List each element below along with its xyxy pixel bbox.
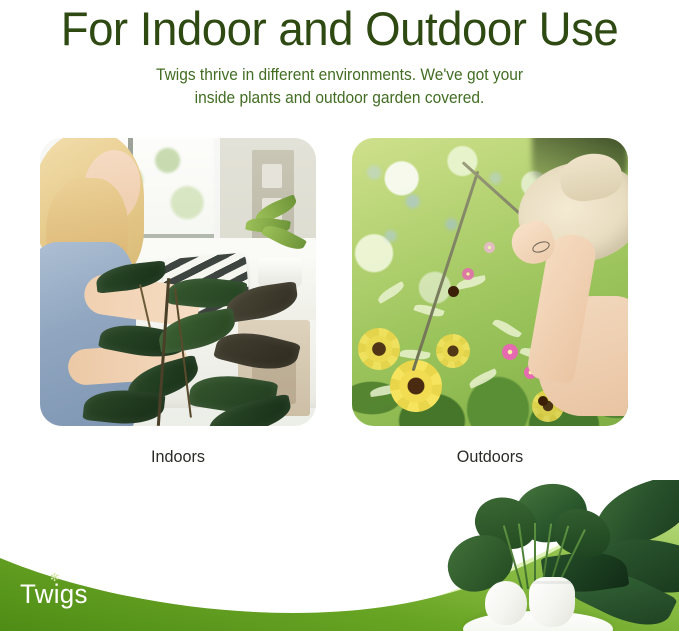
plant-pot-right — [529, 577, 575, 627]
product-feature-page: For Indoor and Outdoor Use Twigs thrive … — [0, 0, 679, 631]
pink-flower — [484, 242, 495, 253]
rubber-plant — [40, 138, 316, 426]
flower-center — [448, 286, 459, 297]
leaf-sparkle-icon: ✻ — [50, 574, 59, 583]
sunflower — [358, 328, 400, 370]
sunflower — [390, 360, 442, 412]
pink-flower — [502, 344, 518, 360]
card-caption-outdoors: Outdoors — [359, 446, 621, 468]
feature-card-indoors: Indoors — [40, 138, 316, 468]
sunflower — [436, 334, 470, 368]
footer-plant-decoration — [419, 480, 679, 631]
feature-card-outdoors: Outdoors — [352, 138, 628, 468]
page-subtitle-line-2: inside plants and outdoor garden covered… — [20, 87, 658, 110]
card-caption-indoors: Indoors — [47, 446, 309, 468]
page-title: For Indoor and Outdoor Use — [10, 0, 669, 56]
outdoors-photo — [352, 138, 628, 426]
indoors-photo — [40, 138, 316, 426]
page-header: For Indoor and Outdoor Use Twigs thrive … — [0, 0, 679, 110]
pink-flower — [462, 268, 474, 280]
plant-pot-left — [485, 581, 527, 625]
page-subtitle-line-1: Twigs thrive in different environments. … — [20, 56, 658, 87]
page-footer: Twigs ✻ — [0, 480, 679, 631]
feature-card-row: Indoors — [40, 138, 628, 468]
